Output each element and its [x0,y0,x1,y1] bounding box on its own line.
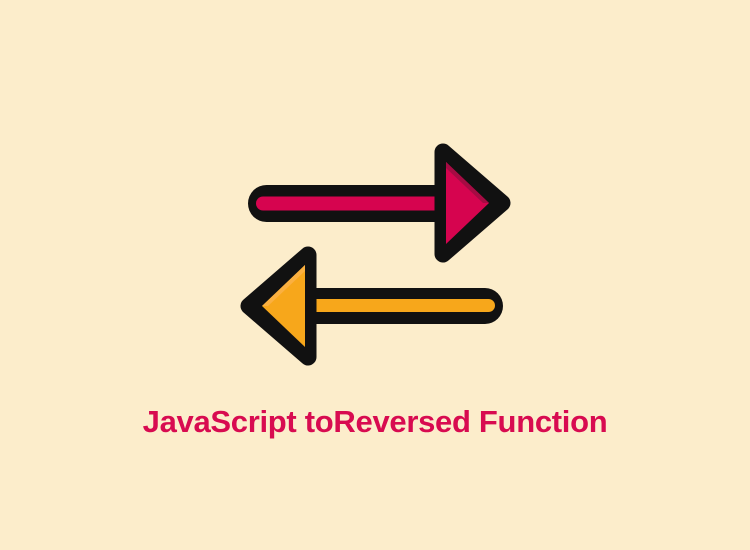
illustration-container [0,0,750,400]
top-arrow-shaft-fill [256,197,459,211]
top-arrow-right-icon [248,152,502,254]
arrows-illustration [0,0,750,400]
page-title: JavaScript toReversed Function [0,404,750,440]
bottom-arrow-left-icon [249,255,503,357]
bottom-arrow-shaft-fill [292,299,495,312]
poster-canvas: JavaScript toReversed Function [0,0,750,550]
